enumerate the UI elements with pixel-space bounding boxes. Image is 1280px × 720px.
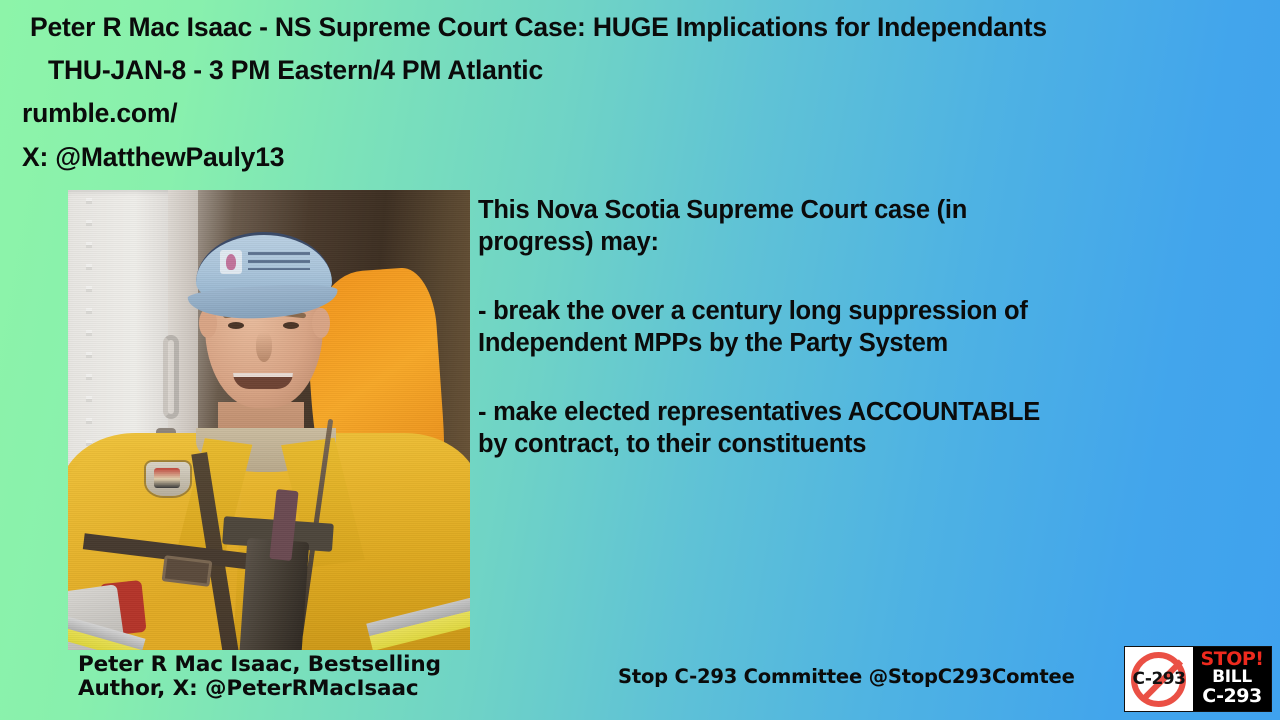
- bullet-2-line-1: - make elected representatives ACCOUNTAB…: [478, 396, 1248, 428]
- body-copy: This Nova Scotia Supreme Court case (in …: [478, 194, 1248, 460]
- logo-prohibition-panel: C-293: [1125, 647, 1193, 711]
- photo-ear-right: [312, 308, 330, 338]
- intro-line-2: progress) may:: [478, 226, 1248, 258]
- bullet-1-line-1: - break the over a century long suppress…: [478, 295, 1248, 327]
- page-title: Peter R Mac Isaac - NS Supreme Court Cas…: [0, 14, 1280, 41]
- photo-cap-lettering: [248, 252, 310, 270]
- logo-bill-code: C-293: [1133, 669, 1186, 689]
- committee-credit: Stop C-293 Committee @StopC293Comtee: [618, 665, 1075, 688]
- stop-bill-c293-logo[interactable]: C-293 STOP! BILL C-293: [1124, 646, 1272, 712]
- bullet-2-line-2: by contract, to their constituents: [478, 428, 1248, 460]
- header-block: Peter R Mac Isaac - NS Supreme Court Cas…: [0, 14, 1280, 170]
- photo-eye-left: [228, 322, 244, 329]
- event-schedule: THU-JAN-8 - 3 PM Eastern/4 PM Atlantic: [0, 57, 1280, 84]
- paragraph-spacer-2: [478, 360, 1248, 396]
- photo-eye-right: [283, 322, 299, 329]
- photo-cap-logo: [220, 250, 242, 274]
- x-handle-host[interactable]: X: @MatthewPauly13: [0, 144, 1280, 171]
- photo-truck-handle: [163, 335, 179, 419]
- intro-line-1: This Nova Scotia Supreme Court case (in: [478, 194, 1248, 226]
- photo-shoulder-patch: [146, 462, 190, 496]
- rumble-link[interactable]: rumble.com/: [0, 100, 1280, 127]
- photo-nose: [256, 332, 272, 362]
- paragraph-spacer-1: [478, 259, 1248, 295]
- photo-inner: [68, 190, 470, 650]
- bullet-1-line-2: Independent MPPs by the Party System: [478, 327, 1248, 359]
- poster-canvas: Peter R Mac Isaac - NS Supreme Court Cas…: [0, 0, 1280, 720]
- logo-bill-number: C-293: [1202, 687, 1261, 707]
- speaker-photo: [68, 190, 470, 650]
- photo-caption-line-1: Peter R Mac Isaac, Bestselling: [78, 653, 498, 677]
- photo-smile: [233, 373, 293, 389]
- photo-caption-line-2: Author, X: @PeterRMacIsaac: [78, 677, 498, 701]
- logo-stop-panel: STOP! BILL C-293: [1193, 647, 1271, 711]
- photo-caption: Peter R Mac Isaac, Bestselling Author, X…: [78, 653, 498, 701]
